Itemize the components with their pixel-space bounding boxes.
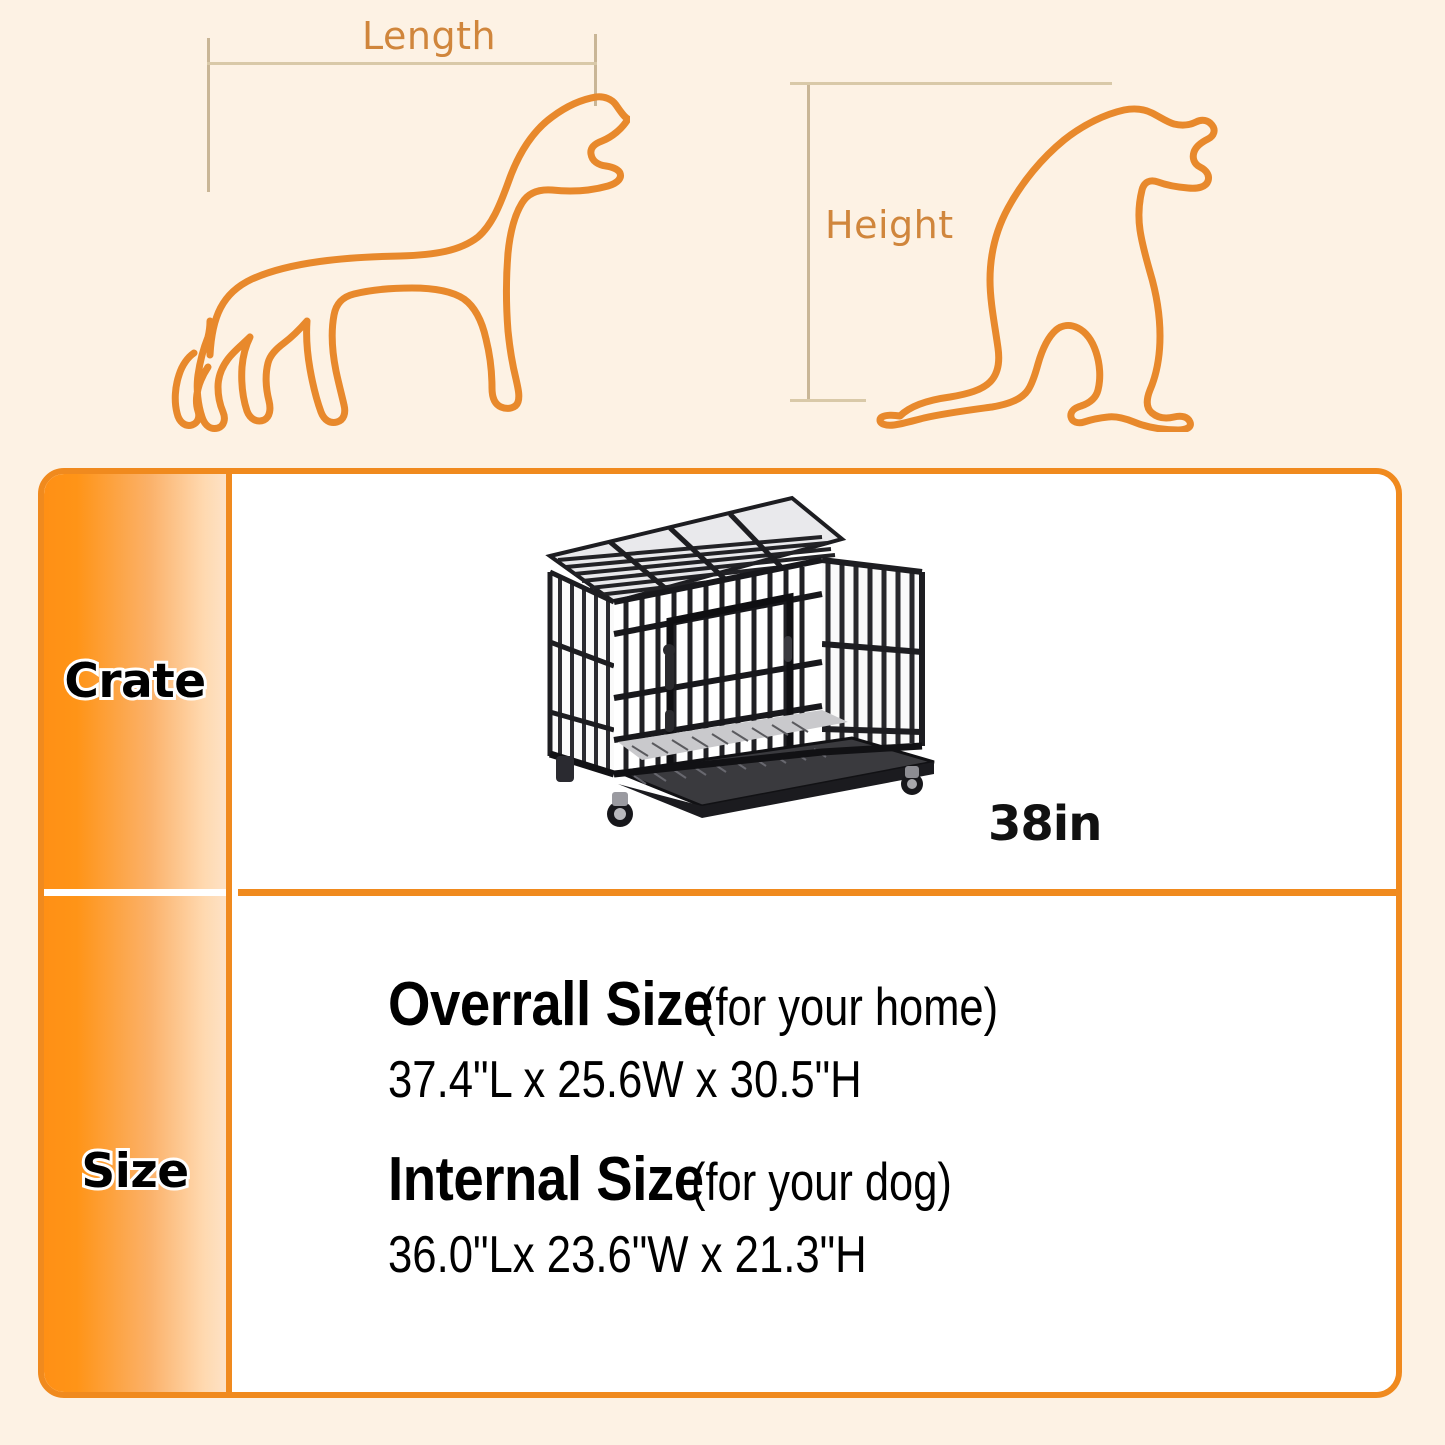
dog-measurement-diagram: Length Height	[0, 0, 1445, 455]
spec-card: Crate Size	[38, 468, 1402, 1398]
crate-row: 38in	[238, 474, 1402, 889]
sidebar-divider	[44, 889, 226, 896]
overall-size-dimensions: 37.4"L x 25.6W x 30.5"H	[388, 1050, 955, 1110]
internal-size-dimensions: 36.0"Lx 23.6"W x 21.3"H	[388, 1225, 910, 1285]
size-row: Overrall Size (for your home) 37.4"L x 2…	[238, 896, 1402, 1396]
internal-size-block: Internal Size (for your dog) 36.0"Lx 23.…	[388, 1144, 1009, 1285]
overall-size-block: Overrall Size (for your home) 37.4"L x 2…	[388, 969, 1063, 1110]
crate-size-badge: 38in	[988, 796, 1101, 852]
internal-size-subtitle: (for your dog)	[691, 1152, 952, 1213]
dog-sitting-silhouette-icon	[840, 72, 1260, 432]
spec-sidebar: Crate Size	[44, 474, 232, 1392]
sidebar-label-size: Size	[44, 1144, 226, 1199]
heavy-duty-dog-crate-image	[522, 484, 952, 864]
overall-size-heading: Overrall Size	[388, 969, 713, 1040]
infographic-root: Length Height Crate Size	[0, 0, 1445, 1445]
length-label: Length	[362, 14, 496, 58]
height-dimension-tick	[807, 84, 810, 402]
spec-content: 38in Overrall Size (for your home) 37.4"…	[238, 474, 1396, 1392]
dog-standing-silhouette-icon	[160, 55, 630, 435]
internal-size-heading: Internal Size	[388, 1144, 704, 1215]
overall-size-subtitle: (for your home)	[701, 977, 998, 1038]
sidebar-label-crate: Crate	[44, 654, 226, 709]
